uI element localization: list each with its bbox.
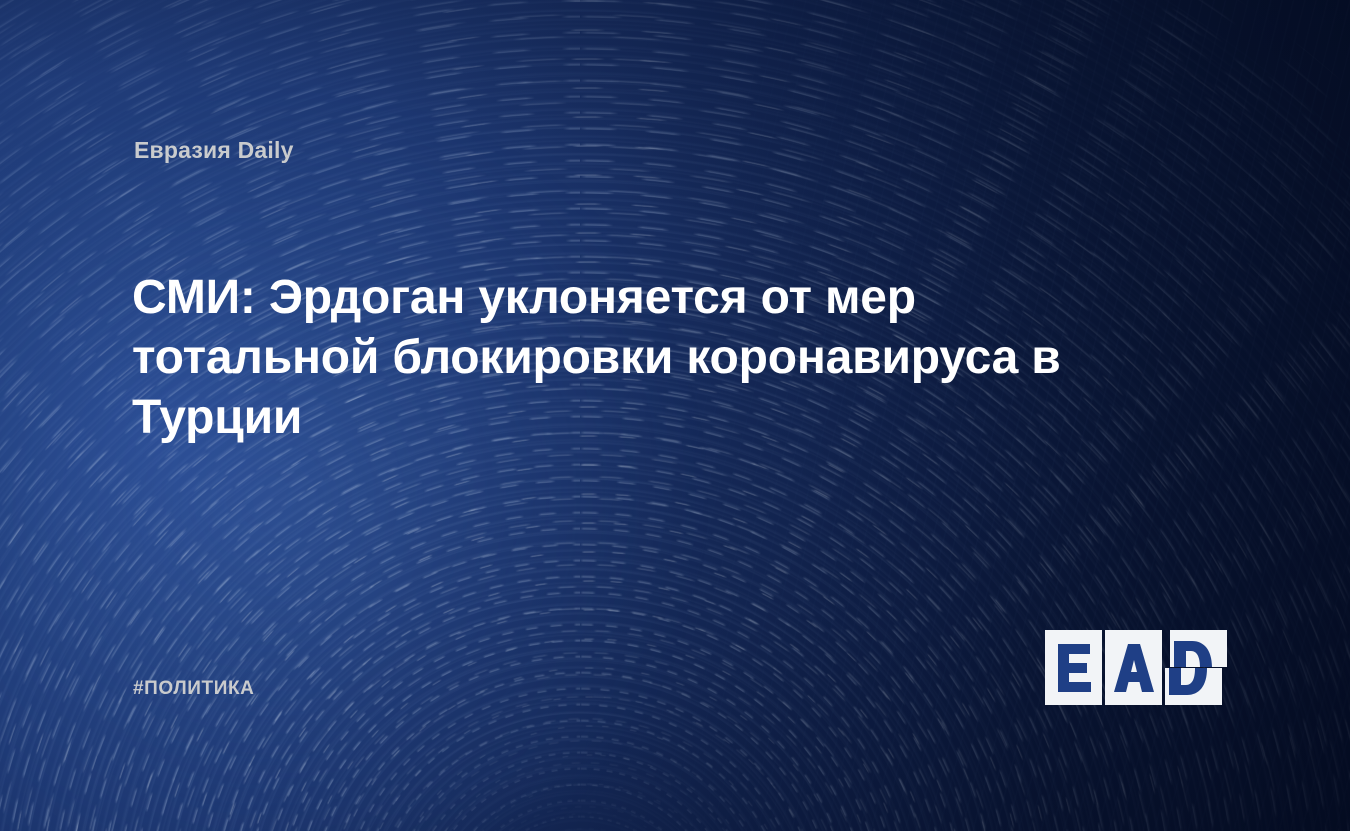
card-content: Евразия Daily СМИ: Эрдоган уклоняется от… bbox=[0, 0, 1350, 831]
logo-tile-e bbox=[1045, 630, 1102, 705]
category-tag: #ПОЛИТИКА bbox=[133, 678, 255, 700]
logo-tile-d bbox=[1165, 630, 1227, 705]
social-share-card: Евразия Daily СМИ: Эрдоган уклоняется от… bbox=[0, 0, 1350, 831]
brand-name: Евразия Daily bbox=[134, 137, 294, 164]
logo-tile-d-top-half bbox=[1170, 630, 1227, 667]
logo-tile-a bbox=[1105, 630, 1162, 705]
logo-tile-d-bottom-half bbox=[1165, 668, 1222, 705]
eadaily-logo[interactable] bbox=[1045, 630, 1227, 705]
page-title: СМИ: Эрдоган уклоняется от мер тотальной… bbox=[132, 268, 1152, 448]
